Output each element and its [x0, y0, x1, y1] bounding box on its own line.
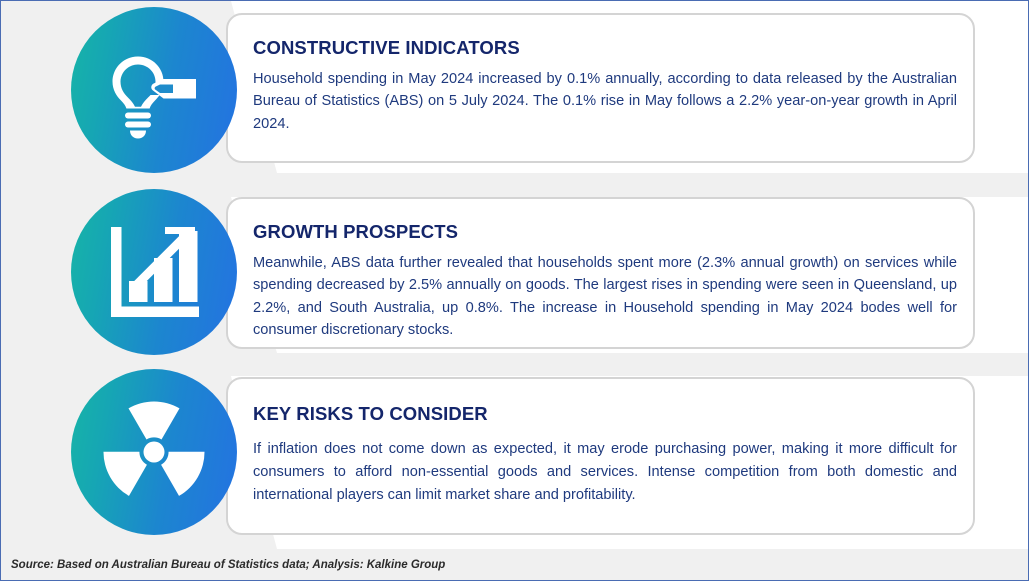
- bar-chart-growth-icon: [71, 189, 237, 355]
- bar-chart-growth-glyph: [103, 221, 205, 323]
- section-card-growth-prospects: GROWTH PROSPECTS Meanwhile, ABS data fur…: [226, 197, 975, 349]
- radiation-hazard-icon: [71, 369, 237, 535]
- section-card-key-risks: KEY RISKS TO CONSIDER If inflation does …: [226, 377, 975, 535]
- source-text: Source: Based on Australian Bureau of St…: [1, 559, 445, 571]
- section-title: KEY RISKS TO CONSIDER: [253, 403, 957, 425]
- section-body: If inflation does not come down as expec…: [253, 438, 957, 507]
- section-text-block: CONSTRUCTIVE INDICATORS Household spendi…: [253, 37, 957, 135]
- section-body: Household spending in May 2024 increased…: [253, 68, 957, 135]
- section-card-constructive-indicators: CONSTRUCTIVE INDICATORS Household spendi…: [226, 13, 975, 163]
- section-text-block: KEY RISKS TO CONSIDER If inflation does …: [253, 403, 957, 507]
- infographic-frame: CONSTRUCTIVE INDICATORS Household spendi…: [0, 0, 1029, 581]
- section-title: CONSTRUCTIVE INDICATORS: [253, 37, 957, 59]
- section-text-block: GROWTH PROSPECTS Meanwhile, ABS data fur…: [253, 221, 957, 341]
- radiation-hazard-glyph: [102, 400, 206, 504]
- source-bar: Source: Based on Australian Bureau of St…: [1, 549, 1028, 580]
- section-body: Meanwhile, ABS data further revealed tha…: [253, 252, 957, 341]
- lightbulb-idea-glyph: [100, 36, 208, 144]
- lightbulb-idea-icon: [71, 7, 237, 173]
- section-title: GROWTH PROSPECTS: [253, 221, 957, 243]
